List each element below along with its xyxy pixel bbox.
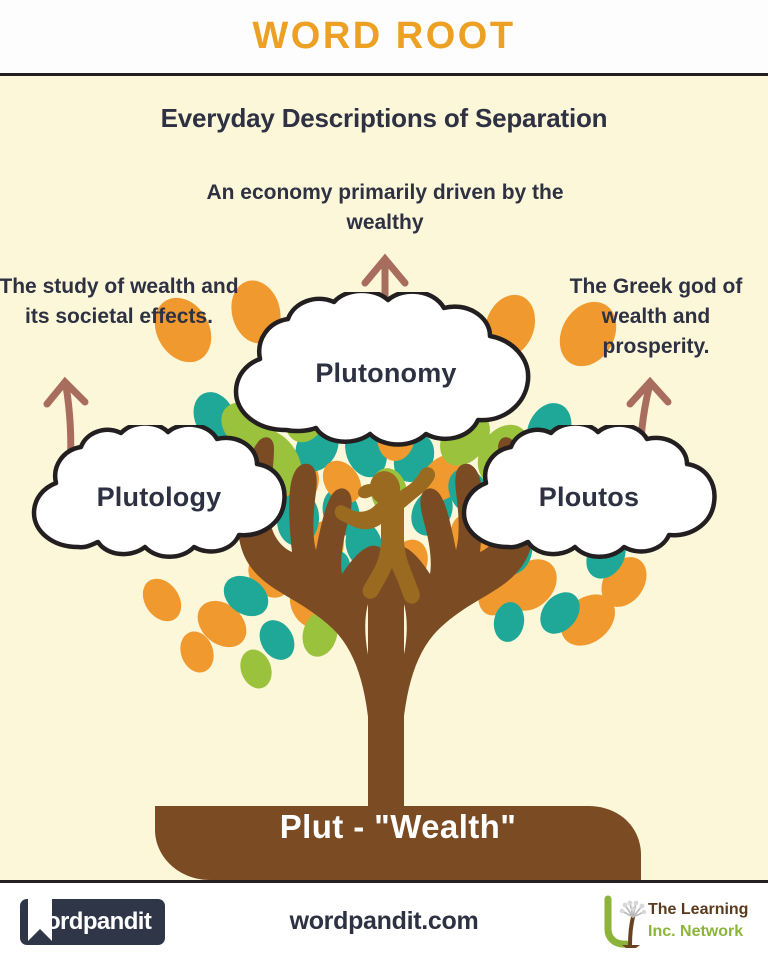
learning-network-logo[interactable]: The Learning Inc. Network xyxy=(600,895,760,949)
cloud-bubble-ploutos: Ploutos xyxy=(458,425,720,567)
page-title: WORD ROOT xyxy=(252,15,515,58)
cloud-label-plutology: Plutology xyxy=(28,482,290,513)
root-word-label: Plut - "Wealth" xyxy=(155,808,641,846)
partner-line-1: The Learning xyxy=(648,899,748,921)
learning-network-text: The Learning Inc. Network xyxy=(648,899,748,942)
cloud-bubble-plutology: Plutology xyxy=(28,425,290,567)
description-right: The Greek god of wealth and prosperity. xyxy=(548,272,764,361)
cloud-label-ploutos: Ploutos xyxy=(458,482,720,513)
child-silhouette-icon xyxy=(335,467,435,604)
partner-line-2: Inc. Network xyxy=(648,921,748,943)
infographic-root: WORD ROOT Everyday Descriptions of Separ… xyxy=(0,0,768,960)
footer-bar: ordpandit wordpandit.com xyxy=(0,880,768,960)
header-bar: WORD ROOT xyxy=(0,0,768,76)
description-left: The study of wealth and its societal eff… xyxy=(0,272,242,332)
subtitle: Everyday Descriptions of Separation xyxy=(0,103,768,134)
description-top: An economy primarily driven by the wealt… xyxy=(185,178,585,238)
tree-logo-icon xyxy=(600,895,648,949)
cloud-label-plutonomy: Plutonomy xyxy=(228,358,544,389)
